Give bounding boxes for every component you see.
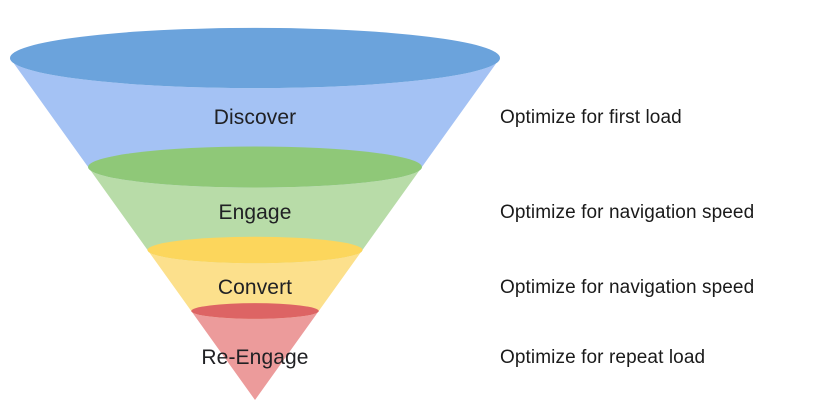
funnel-segment-cap-engage — [88, 146, 422, 187]
funnel-stage-label-engage: Engage — [218, 201, 291, 225]
funnel-stage-label-discover: Discover — [214, 106, 296, 130]
funnel-segment-cap-convert — [148, 237, 363, 263]
funnel-segment-cap-discover — [10, 28, 500, 88]
funnel-annotation-re-engage: Optimize for repeat load — [500, 347, 705, 369]
funnel-stage-label-convert: Convert — [218, 276, 292, 300]
funnel-stage-label-re-engage: Re-Engage — [201, 346, 308, 370]
funnel-annotation-discover: Optimize for first load — [500, 107, 682, 129]
funnel-segment-cap-re-engage — [191, 303, 319, 319]
funnel-annotation-convert: Optimize for navigation speed — [500, 277, 754, 299]
funnel-annotation-engage: Optimize for navigation speed — [500, 202, 754, 224]
funnel-diagram: DiscoverOptimize for first loadEngageOpt… — [0, 0, 837, 417]
